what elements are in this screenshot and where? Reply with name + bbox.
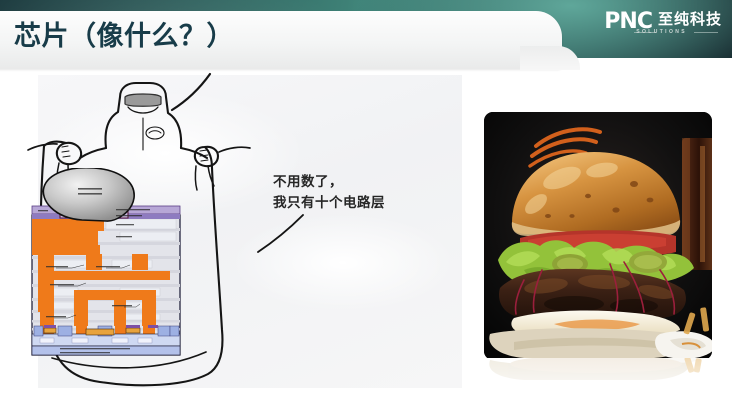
burger-photo-reflection: [484, 358, 712, 404]
burger-photo: [484, 112, 712, 360]
slide-canvas: 芯片（像什么？） PNC 至纯科技 SOLUTIONS: [0, 0, 732, 412]
callout-line-2: 我只有十个电路层: [273, 193, 385, 214]
callout-text: 不用数了， 我只有十个电路层: [273, 172, 385, 214]
chip-cross-section-diagram: [20, 168, 192, 364]
callout-line-1: 不用数了，: [273, 172, 385, 193]
